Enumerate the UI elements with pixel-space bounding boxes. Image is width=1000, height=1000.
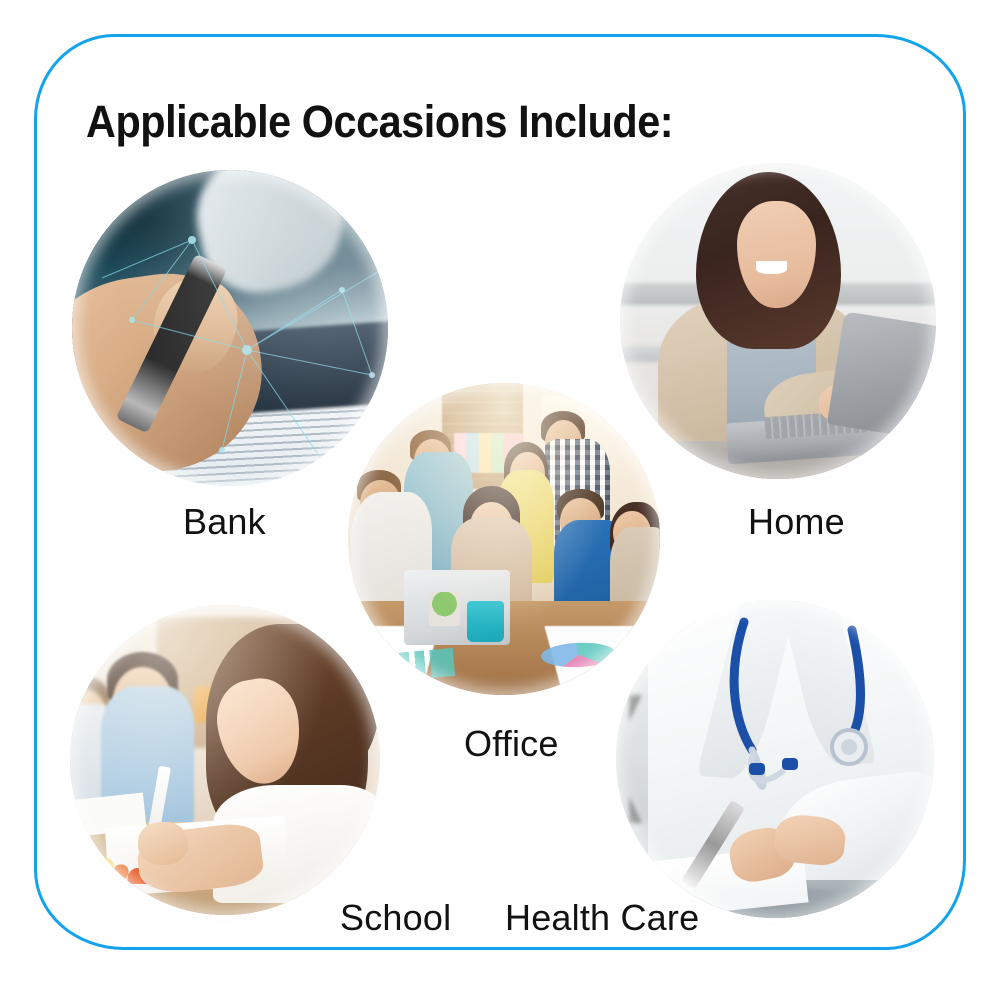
occasion-image-health-care [616,600,934,918]
occasion-label-bank: Bank [183,501,266,543]
occasion-image-bank [72,170,388,486]
occasion-label-health-care: Health Care [505,897,699,939]
occasion-image-office [348,383,660,695]
poster-canvas: Applicable Occasions Include: [0,0,1000,1000]
occasion-label-school: School [340,897,451,939]
occasion-image-school [70,605,380,915]
page-title: Applicable Occasions Include: [86,96,673,148]
occasion-label-office: Office [464,723,559,765]
occasion-image-home [620,163,936,479]
occasion-label-home: Home [748,501,845,543]
